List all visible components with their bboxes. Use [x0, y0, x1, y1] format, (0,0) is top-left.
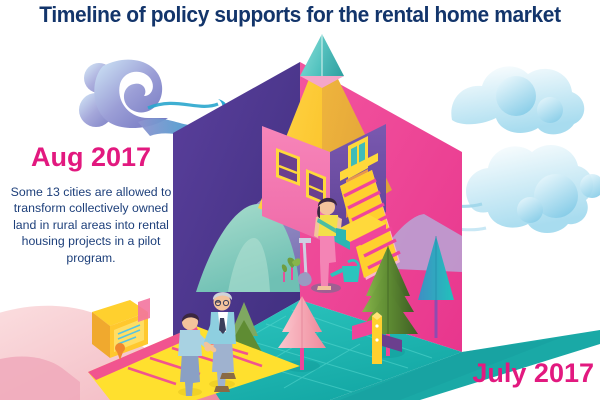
person-left-shirt: [178, 330, 202, 356]
infographic-canvas: Timeline of policy supports for the rent…: [0, 0, 600, 400]
pink-flag: [138, 298, 150, 322]
timeline-body-aug-2017: Some 13 cities are allowed to transform …: [6, 184, 176, 266]
timeline-date-aug-2017: Aug 2017: [6, 142, 176, 172]
timeline-date-july-2017: July 2017: [420, 358, 594, 388]
page-title: Timeline of policy supports for the rent…: [21, 2, 579, 28]
gardener-bag: [336, 228, 346, 240]
